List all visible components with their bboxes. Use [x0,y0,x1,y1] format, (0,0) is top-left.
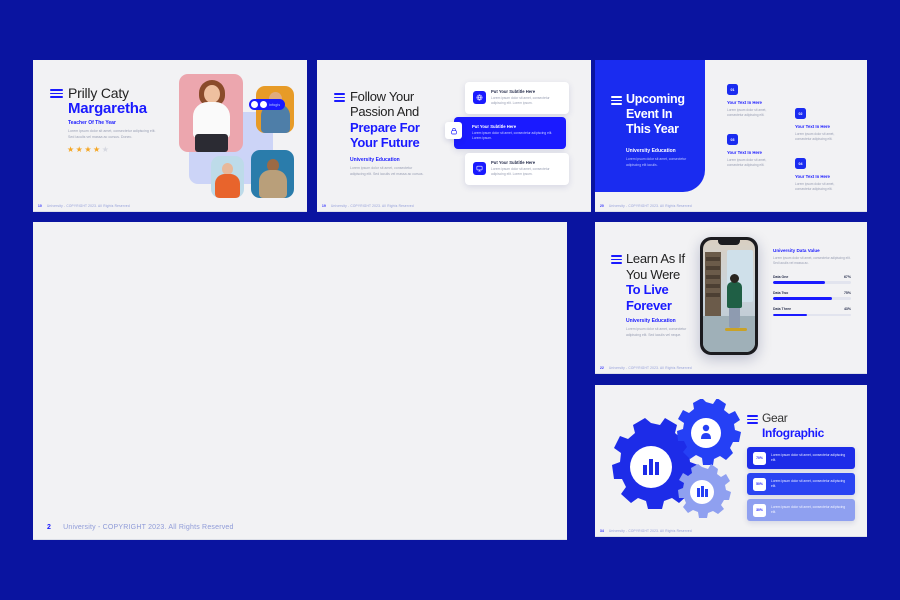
slide3-heading-line3: This Year [626,122,685,137]
event-item-2-title: Your Text In Here [727,150,783,155]
slide4-heading-line2: You Were [626,267,685,283]
person-body [727,282,742,308]
main-footer: 2 University - COPYRIGHT 2023. All Right… [33,514,567,540]
slide1-title-line1: Prilly Caty [68,85,129,101]
lock-icon [445,122,462,139]
hamburger-icon [334,93,345,102]
divider [33,211,307,212]
main-footer-text: University - COPYRIGHT 2023. All Rights … [63,524,234,531]
slide2-heading-line3: Prepare For [350,120,420,135]
gear-bar-3-text: Lorem ipsum dolor sit amet, consectetur … [771,505,849,516]
gear-bar-3[interactable]: 30% Lorem ipsum dolor sit amet, consecte… [747,499,855,521]
slide2-page-number: 19 [322,204,326,208]
feature-card-3[interactable]: Put Your Subtitle Here Lorem ipsum dolor… [465,153,569,185]
star-empty-icon: ★ [102,146,109,154]
slide2-subtitle: University Education [350,157,400,163]
feature-card-2-text: Put Your Subtitle Here Lorem ipsum dolor… [472,124,558,142]
feature-card-1-body: Lorem ipsum dolor sit amet, consectetur … [491,96,561,107]
hamburger-icon [50,88,63,99]
phone-mockup [700,237,758,355]
data-panel-title: University Data Value [773,248,851,253]
feature-card-3-text: Put Your Subtitle Here Lorem ipsum dolor… [491,160,561,178]
event-item-3-body: Lorem ipsum dolor sit amet, consectetur … [795,132,851,143]
data-bar-2-fill [773,297,832,300]
event-item-4[interactable]: 04 Your Text In Here Lorem ipsum dolor s… [795,158,851,192]
slide4-footer: 22 University - COPYRIGHT 2023. All Righ… [595,361,867,374]
feature-card-1-title: Put Your Subtitle Here [491,89,561,94]
data-bar-row-2: Data Two 75% [773,291,851,300]
divider [595,211,867,212]
slide-thumbnail-team[interactable]: Prilly Caty Margaretha Teacher Of The Ye… [33,60,307,212]
event-item-1[interactable]: 01 Your Text In Here Lorem ipsum dolor s… [727,84,783,118]
event-item-2-number: 03 [727,134,738,145]
star-icon: ★ [84,146,91,154]
slide4-heading-line3: To Live [626,282,685,298]
data-bar-3-value: 43% [844,307,851,311]
person-head [730,274,739,283]
skateboard-graphic [725,328,747,331]
feature-card-3-body: Lorem ipsum dolor sit amet, consectetur … [491,167,561,178]
slide4-subtitle: University Education [626,318,676,324]
slide-thumbnail-upcoming-event[interactable]: Upcoming Event In This Year University E… [595,60,867,212]
gear-svg [603,399,753,521]
slide3-heading: Upcoming Event In This Year [626,92,685,137]
gear-medium [677,399,741,465]
slide3-footer: 20 University - COPYRIGHT 2023. All Righ… [595,199,867,212]
divider [595,536,867,537]
hamburger-icon [611,255,622,264]
person-legs [729,306,740,328]
gear-illustration [603,399,753,521]
photo-grid: infogis [171,72,295,200]
event-item-3-number: 02 [795,108,806,119]
star-icon: ★ [67,146,74,154]
instagram-icon [260,101,267,108]
divider [595,373,867,374]
presentation-board: Prilly Caty Margaretha Teacher Of The Ye… [0,0,900,600]
feature-card-1[interactable]: Put Your Subtitle Here Lorem ipsum dolor… [465,82,569,114]
slide1-footer-text: University - COPYRIGHT 2023. All Rights … [47,204,130,208]
social-badge[interactable]: infogis [249,99,285,110]
slide5-page-number: 34 [600,529,604,533]
slide2-heading-line2: Passion And [350,104,420,119]
data-bar-1-track [773,281,851,284]
slide4-body: Lorem ipsum dolor sit amet, consectetur … [626,327,692,339]
slide5-heading-line1: Gear [762,411,787,425]
event-item-4-body: Lorem ipsum dolor sit amet, consectetur … [795,182,851,193]
feature-card-2-title: Put Your Subtitle Here [472,124,558,129]
slide1-title-line2: Margaretha [68,100,147,117]
bookshelf-graphic [705,252,721,322]
gear-bar-2-percent: 50% [753,478,766,491]
slide4-page-number: 22 [600,366,604,370]
divider [33,539,567,540]
gear-bar-1-percent: 70% [753,452,766,465]
feature-card-2[interactable]: Put Your Subtitle Here Lorem ipsum dolor… [454,117,566,149]
event-item-1-number: 01 [727,84,738,95]
slide-thumbnail-learn[interactable]: Learn As If You Were To Live Forever Uni… [595,222,867,374]
event-item-1-body: Lorem ipsum dolor sit amet, consectetur … [727,108,783,119]
data-bar-3-track [773,314,851,317]
phone-screen [703,240,755,352]
photo-tile-4 [251,150,294,198]
feature-card-2-body: Lorem ipsum dolor sit amet, consectetur … [472,131,558,142]
data-value-panel: University Data Value Lorem ipsum dolor … [773,248,851,323]
data-bar-2-label: Data Two [773,291,788,295]
slide1-body: Lorem ipsum dolor sit amet, consectetur … [68,129,156,141]
data-bar-row-1: Data One 67% [773,275,851,284]
feature-card-1-text: Put Your Subtitle Here Lorem ipsum dolor… [491,89,561,107]
divider [317,211,591,212]
slide2-heading-line4: Your Future [350,135,420,150]
slide5-footer-text: University - COPYRIGHT 2023. All Rights … [609,529,692,533]
slide3-heading-line1: Upcoming [626,92,685,107]
gear-bar-1-text: Lorem ipsum dolor sit amet, consectetur … [771,453,849,464]
slide2-footer-text: University - COPYRIGHT 2023. All Rights … [331,204,414,208]
slide2-heading-line1: Follow Your [350,89,420,104]
monitor-icon [473,162,486,175]
slide4-footer-text: University - COPYRIGHT 2023. All Rights … [609,366,692,370]
data-bar-2-track [773,297,851,300]
facebook-icon [251,101,258,108]
social-badge-label: infogis [269,103,280,107]
data-bar-1-fill [773,281,825,284]
slide4-heading-line4: Forever [626,298,685,314]
event-item-3-title: Your Text In Here [795,124,851,129]
event-item-2-body: Lorem ipsum dolor sit amet, consectetur … [727,158,783,169]
star-icon: ★ [76,146,83,154]
hamburger-icon [611,96,622,105]
data-bar-2-value: 75% [844,291,851,295]
slide3-body: Lorem ipsum dolor sit amet, consectetur … [626,157,692,169]
data-bar-3-fill [773,314,807,317]
event-item-1-title: Your Text In Here [727,100,783,105]
main-page-number: 2 [47,524,51,531]
slide2-heading: Follow Your Passion And Prepare For Your… [350,89,420,150]
slide4-heading: Learn As If You Were To Live Forever [626,251,685,313]
slide3-page-number: 20 [600,204,604,208]
main-slide-welcome[interactable]: A Warm Welcome Getting You Where You Wan… [33,222,567,540]
slide5-heading-line2: Infographic [762,426,824,440]
slide3-heading-line2: Event In [626,107,685,122]
data-bar-3-label: Data Three [773,307,791,311]
slide2-footer: 19 University - COPYRIGHT 2023. All Righ… [317,199,591,212]
feature-card-3-title: Put Your Subtitle Here [491,160,561,165]
photo-tile-3 [211,156,244,198]
data-bar-1-label: Data One [773,275,788,279]
slide4-heading-line1: Learn As If [626,251,685,267]
slide3-footer-text: University - COPYRIGHT 2023. All Rights … [609,204,692,208]
gear-bar-3-percent: 30% [753,504,766,517]
slide-thumbnail-passion[interactable]: Follow Your Passion And Prepare For Your… [317,60,591,212]
photo-tile-1 [179,74,243,152]
gear-bar-2-text: Lorem ipsum dolor sit amet, consectetur … [771,479,849,490]
event-item-4-number: 04 [795,158,806,169]
slide2-body: Lorem ipsum dolor sit amet, consectetur … [350,166,428,178]
event-item-3[interactable]: 02 Your Text In Here Lorem ipsum dolor s… [795,108,851,142]
rating-stars: ★ ★ ★ ★ ★ [67,146,109,154]
data-bar-row-3: Data Three 43% [773,307,851,316]
slide1-page-number: 10 [38,204,42,208]
slide1-footer: 10 University - COPYRIGHT 2023. All Righ… [33,199,307,212]
gear-bar-1[interactable]: 70% Lorem ipsum dolor sit amet, consecte… [747,447,855,469]
slide-thumbnail-gear-infographic[interactable]: Gear Infographic 70% Lorem ipsum dolor s… [595,385,867,537]
event-item-2[interactable]: 03 Your Text In Here Lorem ipsum dolor s… [727,134,783,168]
data-bar-1-value: 67% [844,275,851,279]
phone-notch [718,240,740,245]
slide1-subtitle: Teacher Of The Year [68,120,116,126]
data-panel-desc: Lorem ipsum dolor sit amet, consectetur … [773,256,851,267]
globe-icon [473,91,486,104]
star-half-icon: ★ [93,146,100,154]
slide5-footer: 34 University - COPYRIGHT 2023. All Righ… [595,524,867,537]
hamburger-icon [747,415,758,424]
slide3-subtitle: University Education [626,148,676,154]
gear-bar-2[interactable]: 50% Lorem ipsum dolor sit amet, consecte… [747,473,855,495]
event-item-4-title: Your Text In Here [795,174,851,179]
